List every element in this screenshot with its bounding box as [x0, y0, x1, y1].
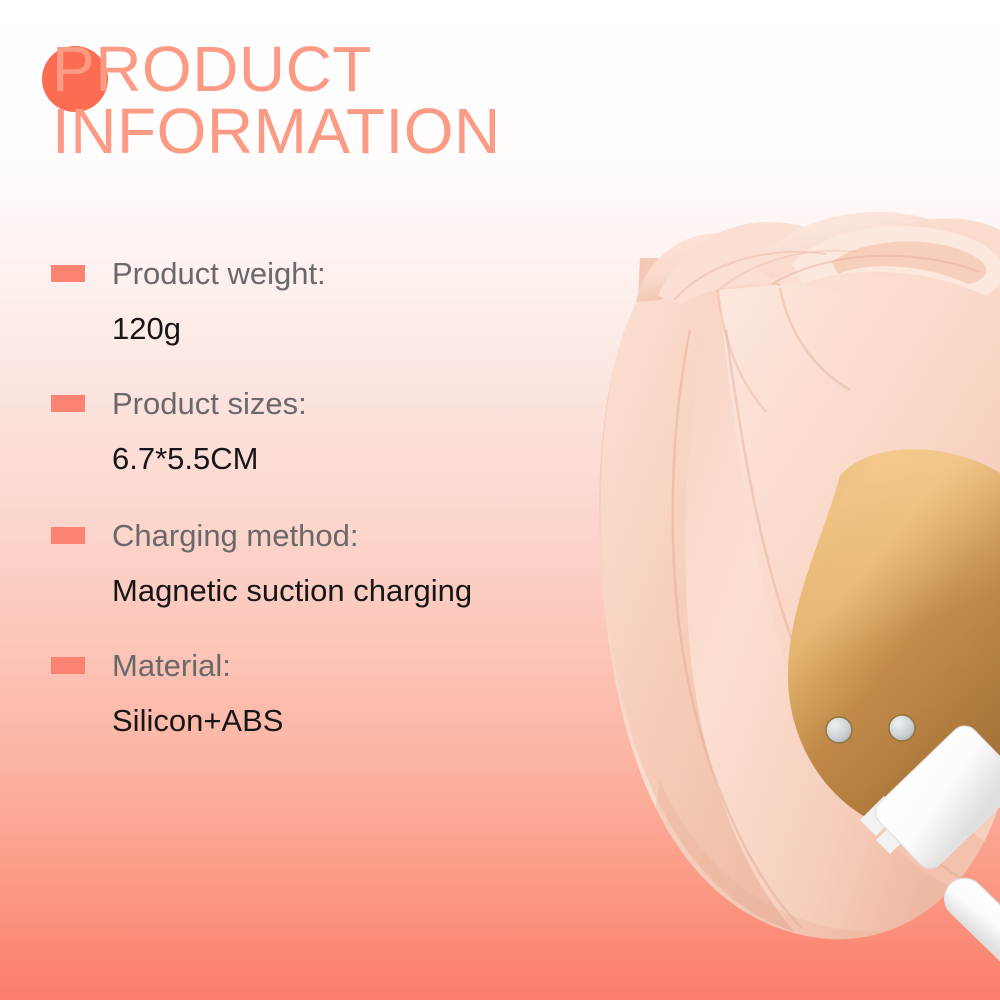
spec-value: 120g	[112, 304, 712, 354]
spec-header: Product weight:	[0, 248, 600, 304]
spec-item-product-weight: Product weight: 120g	[0, 248, 600, 354]
spec-item-material: Material: Silicon+ABS	[0, 640, 600, 746]
spec-item-charging-method: Charging method: Magnetic suction chargi…	[0, 510, 600, 616]
gold-charging-panel	[788, 449, 1000, 835]
bullet-marker-icon	[51, 395, 85, 412]
spec-value: Silicon+ABS	[112, 696, 712, 746]
spec-label: Charging method:	[112, 510, 358, 562]
spec-label: Product sizes:	[112, 378, 307, 430]
charging-cable	[860, 720, 1000, 970]
spec-label: Product weight:	[112, 248, 326, 300]
bullet-marker-icon	[51, 265, 85, 282]
page-title: PRODUCT INFORMATION	[52, 38, 672, 162]
specification-list: Product weight: 120g Product sizes: 6.7*…	[0, 248, 600, 746]
magnetic-contact-icon	[826, 717, 852, 743]
spec-item-product-sizes: Product sizes: 6.7*5.5CM	[0, 378, 600, 484]
page-title-block: PRODUCT INFORMATION	[52, 38, 672, 162]
spec-header: Product sizes:	[0, 378, 600, 434]
bullet-marker-icon	[51, 527, 85, 544]
spec-value: Magnetic suction charging	[112, 566, 712, 616]
spec-header: Material:	[0, 640, 600, 696]
spec-header: Charging method:	[0, 510, 600, 566]
bullet-marker-icon	[51, 657, 85, 674]
magnetic-contact-icon	[889, 715, 915, 741]
product-information-page: PRODUCT INFORMATION Product weight: 120g…	[0, 0, 1000, 1000]
spec-value: 6.7*5.5CM	[112, 434, 712, 484]
spec-label: Material:	[112, 640, 231, 692]
